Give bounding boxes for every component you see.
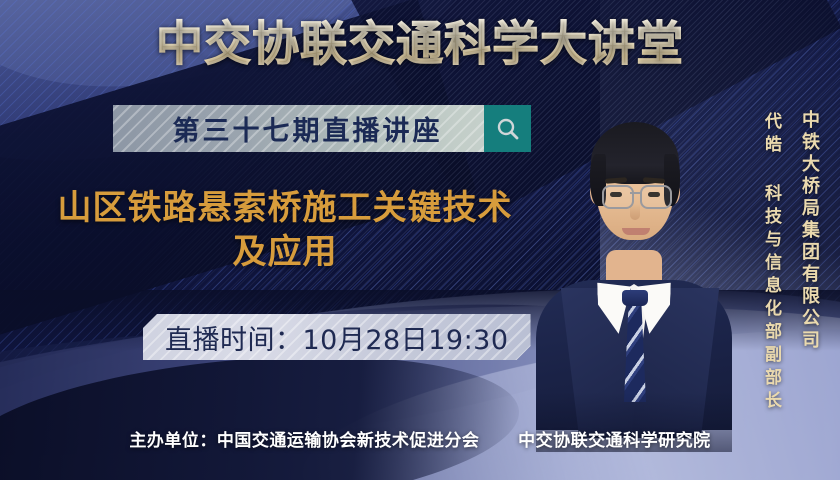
session-badge-label: 第三十七期直播讲座	[113, 109, 484, 148]
portrait-nose	[630, 204, 640, 220]
broadcast-time-banner: 直播时间：10月28日19:30	[143, 314, 531, 360]
organizer-primary: 主办单位：中国交通运输协会新技术促进分会	[129, 431, 479, 451]
session-badge-bar[interactable]: 第三十七期直播讲座	[113, 105, 531, 152]
speaker-name-role: 代皓 科技与信息化部副部长	[759, 112, 784, 414]
topic-title: 山区铁路悬索桥施工关键技术 及应用	[20, 186, 550, 274]
broadcast-time-label: 直播时间：10月28日19:30	[165, 318, 509, 357]
speaker-organization: 中铁大桥局集团有限公司	[796, 110, 822, 352]
portrait-tie-knot	[622, 290, 648, 306]
webinar-poster: 中交协联交通科学大讲堂 中交协联交通科学大讲堂 第三十七期直播讲座 山区铁路悬索…	[0, 0, 840, 480]
speaker-portrait	[548, 92, 718, 422]
organizer-footer: 主办单位：中国交通运输协会新技术促进分会 中交协联交通科学研究院	[0, 426, 840, 451]
glasses-lens-right-icon	[640, 185, 672, 209]
topic-title-line-2: 及应用	[20, 230, 550, 274]
glasses-bridge-icon	[630, 192, 640, 194]
organizer-secondary: 中交协联交通科学研究院	[518, 431, 711, 451]
topic-title-line-1: 山区铁路悬索桥施工关键技术	[20, 186, 550, 230]
portrait-mouth	[622, 228, 650, 235]
main-title: 中交协联交通科学大讲堂	[0, 16, 840, 74]
search-icon	[495, 116, 521, 142]
search-button[interactable]	[484, 105, 531, 152]
